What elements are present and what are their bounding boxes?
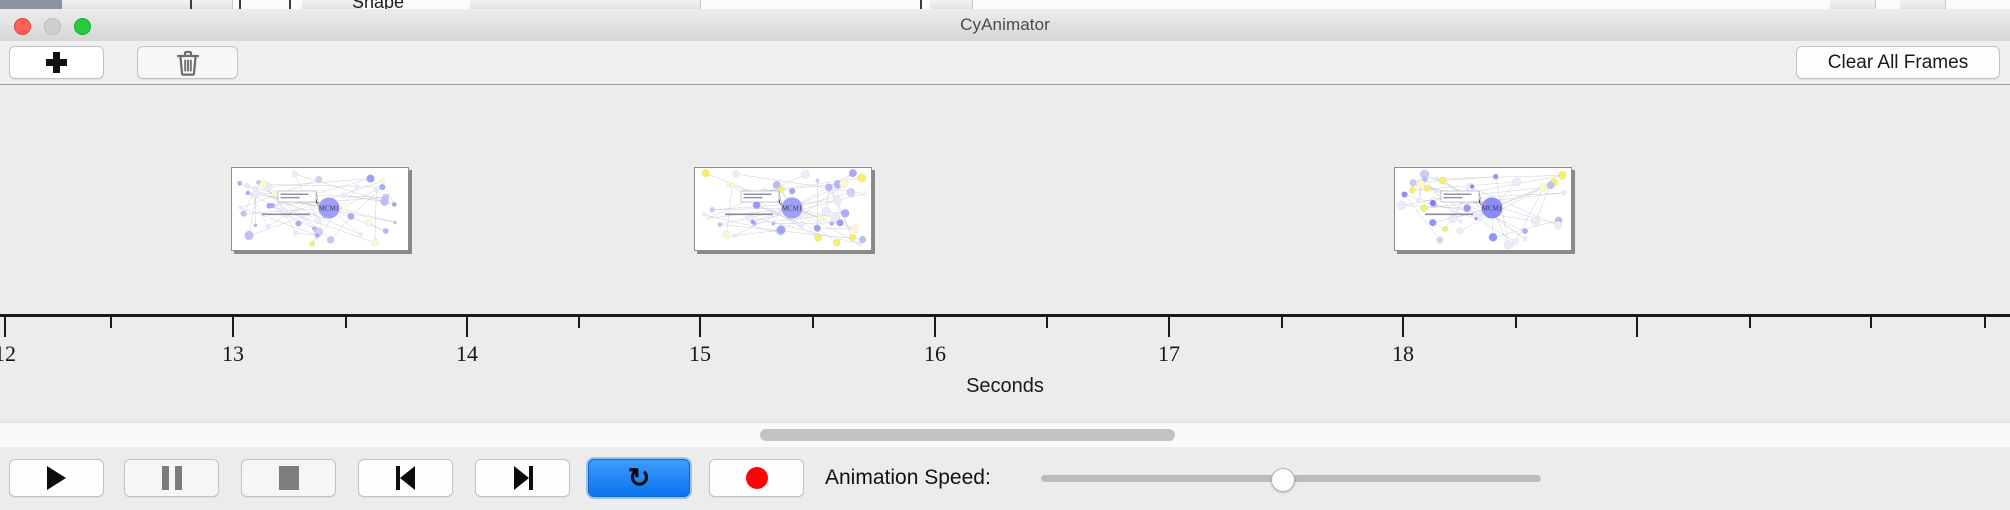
record-button[interactable] [709, 459, 804, 497]
cyanimator-window: Shape CyAnimator Clear All Frames MCM1MC… [0, 0, 2010, 510]
axis-tick [1636, 317, 1638, 337]
animation-speed-label: Animation Speed: [825, 459, 991, 497]
axis-tick [1168, 317, 1170, 337]
axis-tick [1984, 317, 1986, 328]
axis-tick [1281, 317, 1283, 328]
play-button[interactable] [9, 459, 104, 497]
axis-tick [934, 317, 936, 337]
axis-tick [1046, 317, 1048, 328]
prev-frame-button[interactable] [358, 459, 453, 497]
axis-tick [1515, 317, 1517, 328]
background-window-dark-segment [0, 0, 62, 9]
add-frame-button[interactable] [9, 46, 104, 79]
timeline-frame[interactable]: MCM1 [694, 167, 872, 251]
svg-text:MCM1: MCM1 [782, 205, 803, 213]
axis-tick-label: 18 [1392, 341, 1414, 367]
loop-icon: ↻ [628, 465, 651, 492]
network-thumbnail: MCM1 [1395, 168, 1571, 250]
network-thumbnail: MCM1 [695, 168, 871, 250]
axis-tick [699, 317, 701, 337]
axis-tick [345, 317, 347, 328]
axis-tick [110, 317, 112, 328]
axis-tick-label: 12 [0, 341, 16, 367]
pause-icon [162, 466, 182, 490]
title-bar: CyAnimator [0, 9, 2010, 42]
animation-speed-slider-knob[interactable] [1271, 468, 1295, 492]
axis-tick-label: 16 [924, 341, 946, 367]
axis-tick-label: 13 [222, 341, 244, 367]
skip-back-icon [394, 466, 418, 490]
record-icon [746, 467, 768, 489]
timeline-frame[interactable]: MCM1 [1394, 167, 1572, 251]
axis-tick [232, 317, 234, 337]
timeline-panel[interactable]: MCM1MCM1MCM1 12131415161718 Seconds [0, 84, 2010, 423]
timeline-scrollbar-thumb[interactable] [760, 429, 1175, 441]
svg-text:MCM1: MCM1 [319, 205, 340, 213]
delete-frame-button[interactable] [137, 46, 238, 79]
axis-tick [1749, 317, 1751, 328]
trash-icon [175, 49, 201, 77]
stop-icon [279, 466, 299, 490]
playback-control-bar: ↻ Animation Speed: [0, 447, 2010, 510]
axis-tick [1402, 317, 1404, 337]
next-frame-button[interactable] [475, 459, 570, 497]
skip-forward-icon [511, 466, 535, 490]
axis-caption: Seconds [0, 375, 2010, 398]
pause-button[interactable] [124, 459, 219, 497]
axis-tick-label: 14 [456, 341, 478, 367]
timeline-frame[interactable]: MCM1 [231, 167, 409, 251]
axis-tick [466, 317, 468, 337]
axis-tick-label: 15 [689, 341, 711, 367]
timeline-scrollbar[interactable] [0, 422, 2010, 448]
plus-icon [46, 52, 67, 73]
timeline-axis [0, 314, 2010, 317]
axis-tick [1870, 317, 1872, 328]
axis-tick [578, 317, 580, 328]
axis-tick [4, 317, 6, 337]
svg-text:MCM1: MCM1 [1482, 205, 1503, 213]
loop-button[interactable]: ↻ [588, 459, 690, 497]
play-icon [47, 466, 66, 490]
axis-tick [812, 317, 814, 328]
network-thumbnail: MCM1 [232, 168, 408, 250]
window-title: CyAnimator [0, 9, 2010, 41]
clear-all-frames-button[interactable]: Clear All Frames [1796, 46, 2000, 79]
stop-button[interactable] [241, 459, 336, 497]
axis-tick-label: 17 [1158, 341, 1180, 367]
toolbar: Clear All Frames [0, 41, 2010, 85]
